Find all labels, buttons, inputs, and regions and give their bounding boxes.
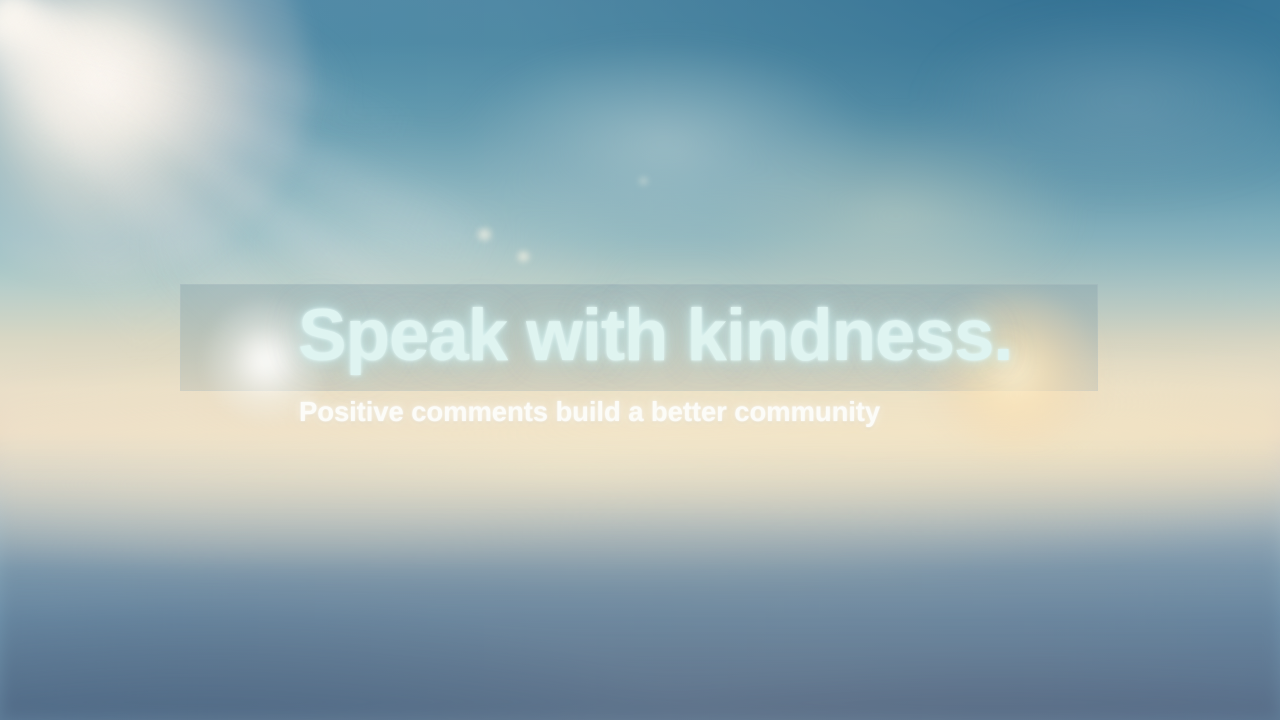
light-ray-icon (0, 0, 206, 371)
light-ray-icon (0, 0, 427, 147)
lens-flare-dot-icon (638, 176, 649, 186)
page-subtitle: Positive comments build a better communi… (299, 398, 880, 426)
sun-flare-icon (0, 0, 310, 280)
title-card-frame: Speak with kindness. Positive comments b… (0, 0, 1280, 720)
light-ray-icon (0, 0, 509, 277)
lens-flare-dot-icon (516, 250, 531, 263)
page-title: Speak with kindness. (298, 299, 1058, 372)
lens-flare-dot-icon (476, 227, 493, 242)
